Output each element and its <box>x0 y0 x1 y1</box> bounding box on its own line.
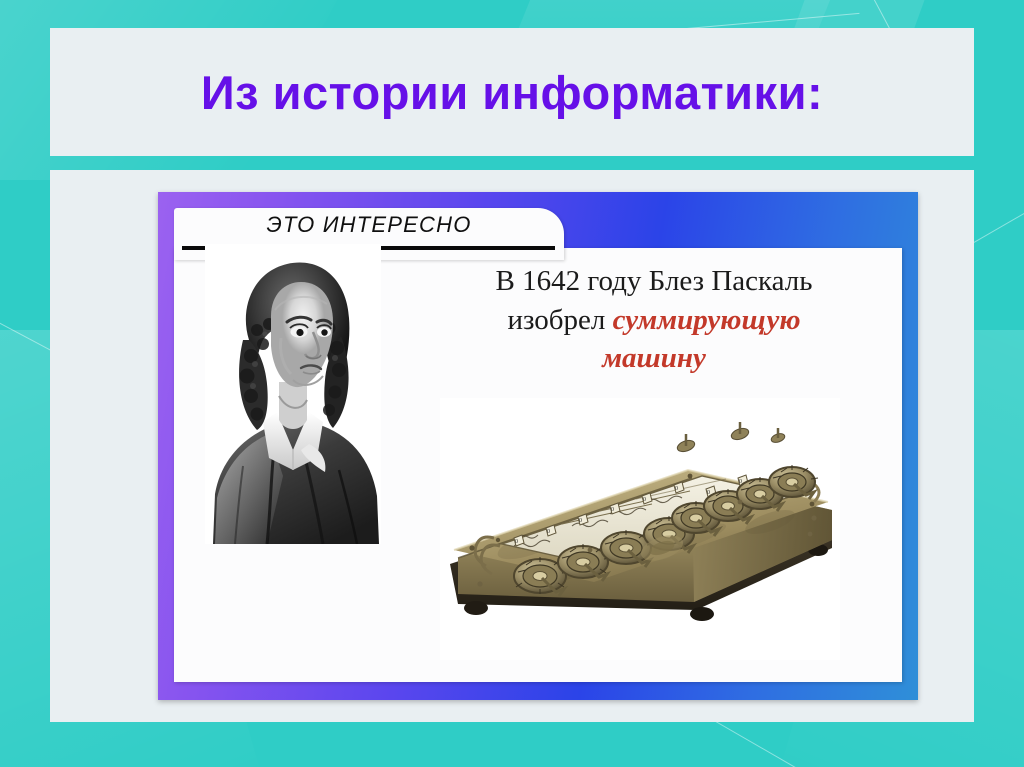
figure-caption: В 1642 году Блез Паскаль изобрел суммиру… <box>430 262 878 378</box>
content-panel: ЭТО ИНТЕРЕСНО <box>50 170 974 722</box>
pascal-portrait <box>205 244 381 544</box>
caption-line-1: В 1642 году Блез Паскаль <box>430 262 878 301</box>
svg-text:0: 0 <box>675 486 678 492</box>
interesting-heading: ЭТО ИНТЕРЕСНО <box>174 212 564 238</box>
caption-highlight-1: суммирующую <box>613 304 801 336</box>
caption-line-2: изобрел суммирующую <box>430 301 878 340</box>
pascaline-machine: 00 00 00 00 <box>440 398 840 660</box>
svg-text:0: 0 <box>643 497 646 503</box>
svg-text:0: 0 <box>515 539 518 545</box>
title-band: Из истории информатики: <box>50 28 974 156</box>
svg-text:0: 0 <box>707 490 710 496</box>
caption-line-2-plain: изобрел <box>507 304 612 336</box>
svg-text:0: 0 <box>547 529 550 535</box>
page-title: Из истории информатики: <box>201 65 823 120</box>
svg-text:0: 0 <box>611 507 614 513</box>
framed-figure: ЭТО ИНТЕРЕСНО <box>158 192 918 700</box>
caption-highlight-2: машину <box>430 339 878 378</box>
slide-canvas: Из истории информатики: ЭТО ИНТЕРЕСНО <box>0 0 1024 767</box>
svg-text:0: 0 <box>579 518 582 524</box>
interesting-heading-text: ЭТО ИНТЕРЕСНО <box>266 212 471 237</box>
